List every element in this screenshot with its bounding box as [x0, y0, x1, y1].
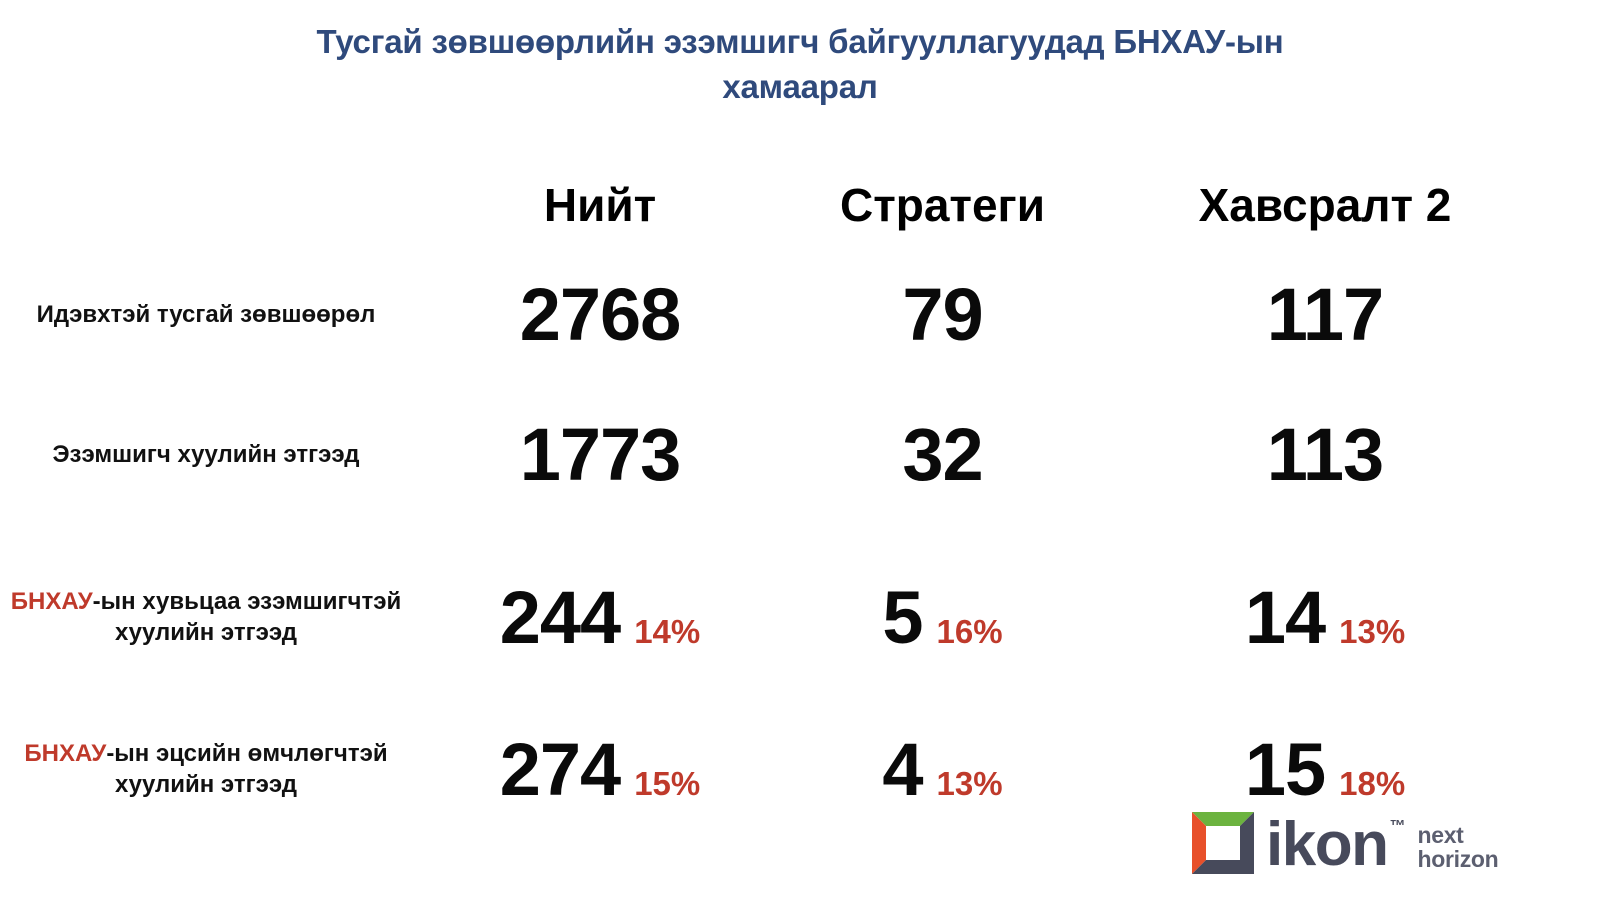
cell-license-holders-khavsralt: 113 — [1115, 418, 1535, 492]
tagline-line-1: next — [1417, 823, 1498, 847]
value-percent: 13% — [1339, 613, 1405, 651]
cell-license-holders-niit: 1773 — [430, 418, 770, 492]
column-header-niit: Нийт — [430, 178, 770, 232]
value-number: 32 — [902, 418, 982, 492]
ikon-logo: ikon ™ next horizon — [1192, 812, 1498, 874]
row-label-active-licenses: Идэвхтэй тусгай зөвшөөрөл — [0, 300, 430, 331]
value-percent: 15% — [634, 765, 700, 803]
cell-active-licenses-strategi: 79 — [770, 278, 1115, 352]
table-row: БНХАУ-ын хувьцаа эзэмшигчтэй хуулийн этг… — [0, 530, 1600, 705]
value-number: 15 — [1245, 733, 1325, 807]
cell-prc-shareholder-niit: 244 14% — [430, 581, 770, 655]
ikon-wordmark: ikon — [1266, 817, 1387, 873]
value-number: 4 — [882, 733, 922, 807]
value-number: 117 — [1267, 278, 1383, 352]
value-number: 244 — [500, 581, 620, 655]
row-label-highlight: БНХАУ — [24, 740, 106, 767]
value-number: 2768 — [520, 278, 681, 352]
column-header-strategi: Стратеги — [770, 178, 1115, 232]
row-label-rest: -ын хувьцаа эзэмшигчтэй хуулийн этгээд — [93, 588, 402, 646]
stats-table: Нийт Стратеги Хавсралт 2 Идэвхтэй тусгай… — [0, 160, 1600, 835]
cell-active-licenses-khavsralt: 117 — [1115, 278, 1535, 352]
cell-active-licenses-niit: 2768 — [430, 278, 770, 352]
table-row: Эзэмшигч хуулийн этгээд 1773 32 113 — [0, 380, 1600, 530]
ikon-logo-mark-icon — [1192, 812, 1254, 874]
ikon-tagline: next horizon — [1417, 823, 1498, 872]
cell-license-holders-strategi: 32 — [770, 418, 1115, 492]
table-row: Идэвхтэй тусгай зөвшөөрөл 2768 79 117 — [0, 250, 1600, 380]
tagline-line-2: horizon — [1417, 847, 1498, 871]
cell-prc-shareholder-khavsralt: 14 13% — [1115, 581, 1535, 655]
value-number: 5 — [882, 581, 922, 655]
row-label-prc-shareholder: БНХАУ-ын хувьцаа эзэмшигчтэй хуулийн этг… — [0, 587, 430, 648]
row-label-license-holders: Эзэмшигч хуулийн этгээд — [0, 440, 430, 471]
table-header-row: Нийт Стратеги Хавсралт 2 — [0, 160, 1600, 250]
column-header-khavsralt-2: Хавсралт 2 — [1115, 178, 1535, 232]
value-number: 14 — [1245, 581, 1325, 655]
cell-prc-shareholder-strategi: 5 16% — [770, 581, 1115, 655]
value-percent: 13% — [937, 765, 1003, 803]
row-label-highlight: БНХАУ — [11, 588, 93, 615]
cell-prc-beneficial-owner-khavsralt: 15 18% — [1115, 733, 1535, 807]
row-label-prc-beneficial-owner: БНХАУ-ын эцсийн өмчлөгчтэй хуулийн этгээ… — [0, 739, 430, 800]
page-title: Тусгай зөвшөөрлийн эзэмшигч байгууллагуу… — [270, 20, 1330, 110]
row-label-rest: -ын эцсийн өмчлөгчтэй хуулийн этгээд — [106, 740, 387, 798]
value-percent: 16% — [937, 613, 1003, 651]
value-number: 274 — [500, 733, 620, 807]
value-number: 113 — [1267, 418, 1383, 492]
cell-prc-beneficial-owner-niit: 274 15% — [430, 733, 770, 807]
cell-prc-beneficial-owner-strategi: 4 13% — [770, 733, 1115, 807]
value-number: 79 — [902, 278, 982, 352]
value-percent: 18% — [1339, 765, 1405, 803]
value-number: 1773 — [520, 418, 681, 492]
value-percent: 14% — [634, 613, 700, 651]
trademark-symbol: ™ — [1389, 818, 1405, 836]
